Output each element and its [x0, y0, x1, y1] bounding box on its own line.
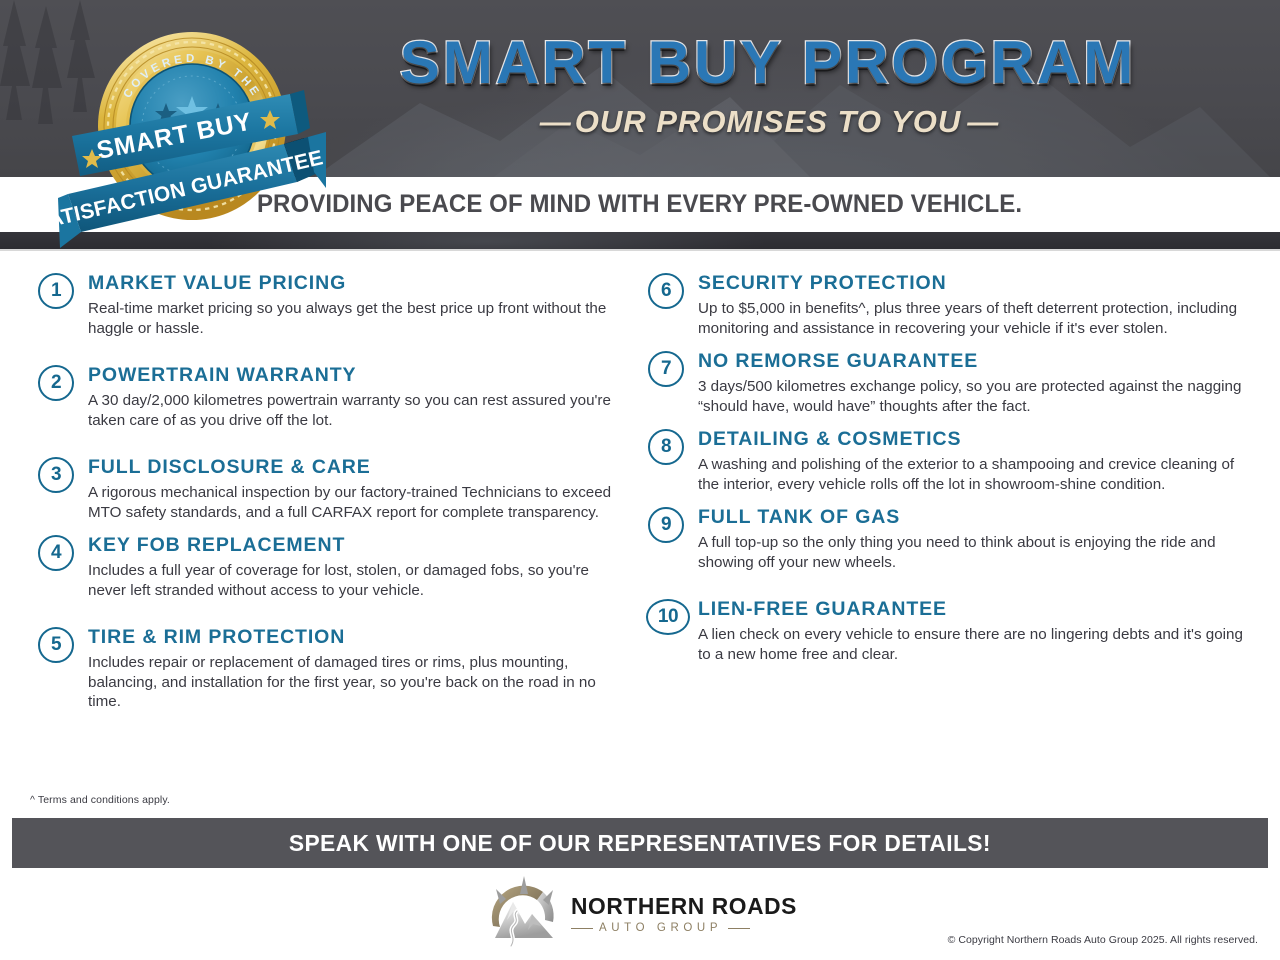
footer-logo-tagline-row: AUTO GROUP: [571, 922, 804, 934]
promise-number-badge: 7: [648, 351, 684, 387]
footer-logo-name: NORTHERN ROADS: [571, 894, 797, 919]
promise-item: 5 TIRE & RIM PROTECTION Includes repair …: [38, 626, 612, 712]
promise-body: A full top-up so the only thing you need…: [698, 533, 1256, 572]
promise-body: 3 days/500 kilometres exchange policy, s…: [698, 377, 1256, 416]
promise-title: LIEN-FREE GUARANTEE: [698, 598, 1256, 620]
promise-item: 1 MARKET VALUE PRICING Real-time market …: [38, 272, 612, 338]
promise-body: A lien check on every vehicle to ensure …: [698, 625, 1256, 664]
promise-body: A rigorous mechanical inspection by our …: [88, 483, 612, 522]
promise-item: 8 DETAILING & COSMETICS A washing and po…: [648, 428, 1256, 494]
promise-title: FULL DISCLOSURE & CARE: [88, 456, 612, 478]
subtitle-dash-right: —: [967, 104, 996, 140]
tagline-text: PROVIDING PEACE OF MIND WITH EVERY PRE-O…: [257, 190, 1022, 219]
promise-item: 4 KEY FOB REPLACEMENT Includes a full ye…: [38, 534, 612, 600]
page-title: SMART BUY PROGRAM: [318, 30, 1218, 96]
promise-item: 6 SECURITY PROTECTION Up to $5,000 in be…: [648, 272, 1256, 338]
footer-logo-tagline: AUTO GROUP: [599, 922, 722, 934]
promise-title: POWERTRAIN WARRANTY: [88, 364, 612, 386]
promise-body: A washing and polishing of the exterior …: [698, 455, 1256, 494]
footer-logo: NORTHERN ROADS AUTO GROUP: [487, 876, 817, 948]
promise-title: NO REMORSE GUARANTEE: [698, 350, 1256, 372]
promise-item: 9 FULL TANK OF GAS A full top-up so the …: [648, 506, 1256, 572]
promise-item: 3 FULL DISCLOSURE & CARE A rigorous mech…: [38, 456, 612, 522]
promise-body: A 30 day/2,000 kilometres powertrain war…: [88, 391, 612, 430]
promise-title: FULL TANK OF GAS: [698, 506, 1256, 528]
northern-roads-mountain-icon: [487, 876, 561, 948]
smart-buy-satisfaction-guarantee-badge: COVERED BY THE SATISFACTION GUARANTEE SM…: [58, 16, 326, 248]
promise-body: Real-time market pricing so you always g…: [88, 299, 612, 338]
logo-rule-left: [571, 928, 593, 929]
promises-section: 1 MARKET VALUE PRICING Real-time market …: [0, 251, 1280, 730]
promise-number-badge: 1: [38, 273, 74, 309]
subtitle-text: OUR PROMISES TO YOU: [575, 104, 961, 139]
promise-body: Includes repair or replacement of damage…: [88, 653, 612, 712]
header-title-block: SMART BUY PROGRAM —OUR PROMISES TO YOU—: [318, 30, 1218, 140]
promise-title: DETAILING & COSMETICS: [698, 428, 1256, 450]
promise-item: 7 NO REMORSE GUARANTEE 3 days/500 kilome…: [648, 350, 1256, 416]
page-subtitle: —OUR PROMISES TO YOU—: [318, 104, 1218, 140]
footer-logo-wordmark: NORTHERN ROADS AUTO GROUP: [571, 890, 804, 934]
promise-number-badge: 8: [648, 429, 684, 465]
promise-number-badge: 10: [646, 599, 690, 635]
promise-number-badge: 2: [38, 365, 74, 401]
promise-item: 10 LIEN-FREE GUARANTEE A lien check on e…: [648, 598, 1256, 664]
promise-title: MARKET VALUE PRICING: [88, 272, 612, 294]
promise-title: TIRE & RIM PROTECTION: [88, 626, 612, 648]
promise-item: 2 POWERTRAIN WARRANTY A 30 day/2,000 kil…: [38, 364, 612, 430]
promise-number-badge: 3: [38, 457, 74, 493]
promise-body: Includes a full year of coverage for los…: [88, 561, 612, 600]
promise-number-badge: 6: [648, 273, 684, 309]
call-to-action-text: SPEAK WITH ONE OF OUR REPRESENTATIVES FO…: [289, 830, 991, 857]
logo-rule-right: [728, 928, 750, 929]
copyright-text: © Copyright Northern Roads Auto Group 20…: [948, 934, 1258, 946]
promises-column-left: 1 MARKET VALUE PRICING Real-time market …: [0, 267, 640, 730]
promise-number-badge: 9: [648, 507, 684, 543]
terms-and-conditions-note: ^ Terms and conditions apply.: [30, 794, 170, 806]
promises-column-right: 6 SECURITY PROTECTION Up to $5,000 in be…: [640, 267, 1280, 730]
subtitle-dash-left: —: [540, 104, 569, 140]
call-to-action-bar: SPEAK WITH ONE OF OUR REPRESENTATIVES FO…: [12, 818, 1268, 868]
promise-title: KEY FOB REPLACEMENT: [88, 534, 612, 556]
promise-number-badge: 4: [38, 535, 74, 571]
promise-body: Up to $5,000 in benefits^, plus three ye…: [698, 299, 1256, 338]
promise-number-badge: 5: [38, 627, 74, 663]
promise-title: SECURITY PROTECTION: [698, 272, 1256, 294]
